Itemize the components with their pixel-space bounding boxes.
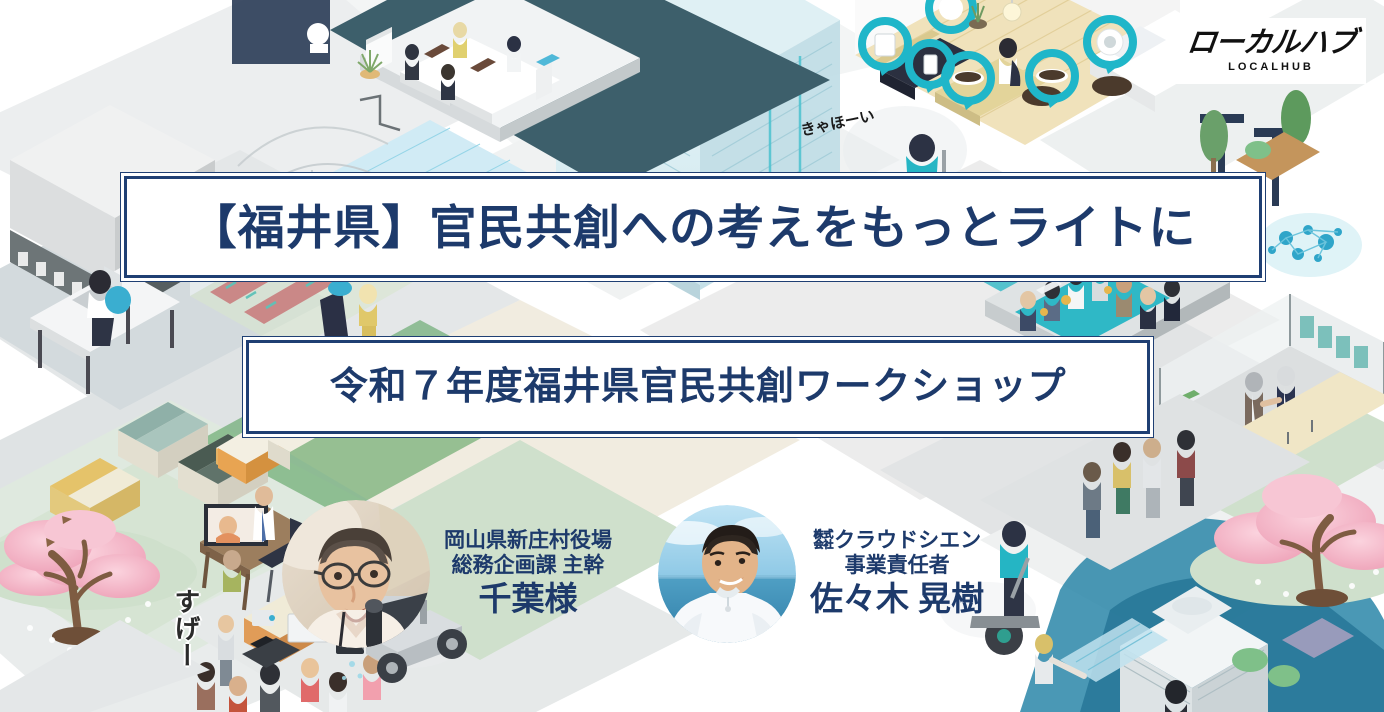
speaker-chiba-name: 千葉様 — [444, 580, 612, 619]
speaker-chiba: 岡山県新庄村役場 総務企画課 主幹 千葉様 — [282, 500, 612, 648]
sub-title-box: 令和７年度福井県官民共創ワークショップ — [246, 340, 1150, 434]
speaker-sasaki: ㍿クラウドシエン 事業責任者 佐々木 晃樹 — [658, 505, 984, 643]
presentation-slide: きゃほーい すげー ローカルハブ LOCALHUB 【福井県】官民共創への考えを… — [0, 0, 1384, 712]
speaker-chiba-role: 総務企画課 主幹 — [444, 554, 612, 579]
page-subtitle: 令和７年度福井県官民共創ワークショップ — [330, 368, 1066, 406]
avatar-sasaki — [658, 505, 796, 643]
speaker-sasaki-role: 事業責任者 — [810, 554, 984, 579]
speaker-chiba-organization: 岡山県新庄村役場 — [444, 529, 612, 554]
scene-data-cloud — [1258, 213, 1362, 277]
speaker-sasaki-organization: ㍿クラウドシエン — [810, 529, 984, 554]
speaker-sasaki-caption: ㍿クラウドシエン 事業責任者 佐々木 晃樹 — [810, 529, 984, 619]
logo-sub-text: LOCALHUB — [1228, 62, 1314, 73]
speaker-chiba-caption: 岡山県新庄村役場 総務企画課 主幹 千葉様 — [444, 529, 612, 619]
annotation-sugee: すげー — [168, 588, 205, 669]
logo-main-text: ローカルハブ — [1185, 29, 1357, 58]
speaker-sasaki-name: 佐々木 晃樹 — [810, 580, 984, 619]
page-title: 【福井県】官民共創への考えをもっとライトに — [190, 204, 1197, 251]
avatar-chiba — [282, 500, 430, 648]
localhub-logo[interactable]: ローカルハブ LOCALHUB — [1176, 18, 1366, 84]
main-title-box: 【福井県】官民共創への考えをもっとライトに — [124, 176, 1262, 278]
avatar-sasaki-photo — [658, 505, 796, 643]
avatar-chiba-photo — [282, 500, 430, 648]
